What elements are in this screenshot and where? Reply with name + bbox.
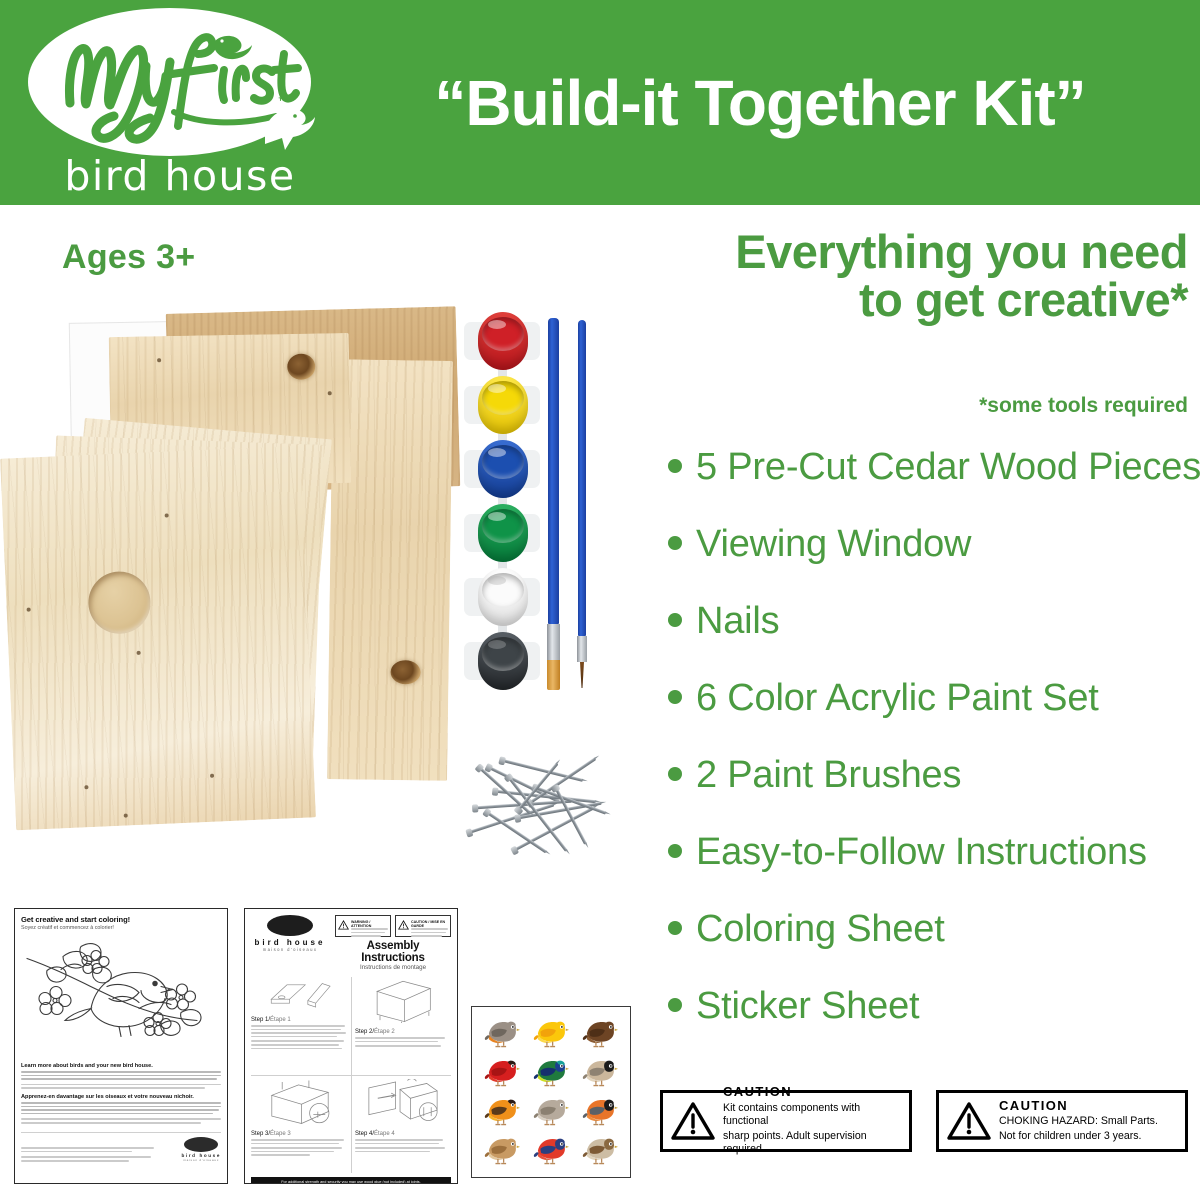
feature-label: 2 Paint Brushes bbox=[696, 756, 961, 794]
sticker-bird-bluebird bbox=[527, 1131, 575, 1169]
assembly-footer-note: For additional strength and security you… bbox=[251, 1177, 451, 1184]
feature-list: 5 Pre-Cut Cedar Wood PiecesViewing Windo… bbox=[668, 448, 1198, 1064]
acrylic-paint-set bbox=[462, 310, 542, 700]
small-bird-glyph bbox=[214, 36, 252, 59]
bullet-icon bbox=[668, 767, 682, 781]
sticker-bird-painted-bunting bbox=[527, 1054, 575, 1092]
feature-label: 5 Pre-Cut Cedar Wood Pieces bbox=[696, 448, 1200, 486]
sticker-bird-oriole bbox=[478, 1093, 526, 1131]
sticker-bird-wren bbox=[478, 1131, 526, 1169]
caution-line-2: Not for children under 3 years. bbox=[999, 1130, 1158, 1143]
feature-item: Coloring Sheet bbox=[668, 910, 1198, 979]
caution-heading: CAUTION bbox=[723, 1085, 901, 1099]
product-info-panel: ™ bird house “Build-it Together Kit” Age… bbox=[0, 0, 1200, 1200]
sticker-bird-robin bbox=[478, 1015, 526, 1053]
coloring-sheet-logo: bird house maison d'oiseaux bbox=[182, 1137, 221, 1162]
paint-pot-yellow bbox=[464, 374, 540, 437]
sticker-bird-sparrow-gray bbox=[527, 1093, 575, 1131]
bullet-icon bbox=[668, 998, 682, 1012]
feature-item: Sticker Sheet bbox=[668, 987, 1198, 1056]
paint-brush-round bbox=[578, 320, 586, 688]
caution-box-sharp-points: CAUTION Kit contains components with fun… bbox=[660, 1090, 912, 1152]
warning-triangle-icon bbox=[671, 1101, 715, 1141]
coloring-sheet-section-en: Learn more about birds and your new bird… bbox=[21, 1063, 221, 1069]
feature-item: 5 Pre-Cut Cedar Wood Pieces bbox=[668, 448, 1198, 517]
paint-pot-red bbox=[464, 310, 540, 373]
assembly-step-3: Step 3/Étape 3 bbox=[251, 1079, 349, 1173]
wood-plank-front-with-hole bbox=[0, 446, 316, 831]
feature-item: 2 Paint Brushes bbox=[668, 756, 1198, 825]
brand-subtitle: bird house bbox=[40, 152, 320, 200]
feature-item: 6 Color Acrylic Paint Set bbox=[668, 679, 1198, 748]
assembly-step-2: Step 2/Étape 2 bbox=[355, 977, 451, 1073]
bullet-icon bbox=[668, 613, 682, 627]
feature-item: Nails bbox=[668, 602, 1198, 671]
paint-brush-flat bbox=[548, 318, 559, 690]
bullet-icon bbox=[668, 459, 682, 473]
bullet-icon bbox=[668, 690, 682, 704]
coloring-sheet-title: Get creative and start coloring! bbox=[21, 915, 221, 924]
sticker-bird-brown-wren bbox=[576, 1131, 624, 1169]
bullet-icon bbox=[668, 844, 682, 858]
assembly-instructions-sheet: bird house maison d'oiseaux WARNING / AT… bbox=[244, 908, 458, 1184]
assembly-step-1: Step 1/Étape 1 bbox=[251, 977, 349, 1073]
wood-pieces-photo bbox=[0, 300, 450, 890]
paint-pot-white bbox=[464, 566, 540, 629]
sticker-bird-nuthatch bbox=[576, 1093, 624, 1131]
sticker-bird-chickadee bbox=[576, 1054, 624, 1092]
caution-box-choking-hazard: CAUTION CHOKING HAZARD: Small Parts. Not… bbox=[936, 1090, 1188, 1152]
age-rating-label: Ages 3+ bbox=[62, 238, 195, 277]
bird-icon bbox=[255, 100, 317, 152]
coloring-sheet-section-fr: Apprenez-en davantage sur les oiseaux et… bbox=[21, 1094, 221, 1100]
bird-line-art-illustration bbox=[21, 935, 221, 1053]
feature-label: Easy-to-Follow Instructions bbox=[696, 833, 1147, 871]
feature-label: Viewing Window bbox=[696, 525, 971, 563]
caution-line-1: CHOKING HAZARD: Small Parts. bbox=[999, 1115, 1158, 1128]
feature-label: Nails bbox=[696, 602, 779, 640]
headline-footnote: *some tools required bbox=[640, 394, 1188, 418]
sticker-bird-brown-thrush bbox=[576, 1015, 624, 1053]
assembly-brand-logo: bird house maison d'oiseaux bbox=[251, 915, 329, 952]
page-title: “Build-it Together Kit” bbox=[330, 48, 1190, 158]
caution-line-1: Kit contains components with functional bbox=[723, 1102, 901, 1128]
sticker-sheet bbox=[471, 1006, 631, 1178]
paint-pot-green bbox=[464, 502, 540, 565]
coloring-sheet: Get creative and start coloring! Soyez c… bbox=[14, 908, 228, 1184]
sticker-bird-cardinal bbox=[478, 1054, 526, 1092]
main-headline: Everything you need to get creative* bbox=[640, 228, 1188, 324]
header-band: ™ bird house “Build-it Together Kit” bbox=[0, 0, 1200, 205]
bullet-icon bbox=[668, 921, 682, 935]
warning-triangle-icon bbox=[947, 1101, 991, 1141]
assembly-step-4: Step 4/Étape 4 bbox=[355, 1079, 451, 1173]
assembly-warning-box-left: WARNING / ATTENTION bbox=[335, 915, 391, 937]
headline-line-1: Everything you need bbox=[735, 225, 1188, 278]
assembly-warning-box-right: CAUTION / MISE EN GARDE bbox=[395, 915, 451, 937]
paint-pot-blue bbox=[464, 438, 540, 501]
headline-line-2: to get creative* bbox=[640, 276, 1188, 324]
feature-item: Easy-to-Follow Instructions bbox=[668, 833, 1198, 902]
bullet-icon bbox=[668, 536, 682, 550]
feature-label: Coloring Sheet bbox=[696, 910, 945, 948]
feature-label: Sticker Sheet bbox=[696, 987, 919, 1025]
caution-line-2: sharp points. Adult supervision required… bbox=[723, 1130, 901, 1156]
sticker-bird-goldfinch bbox=[527, 1015, 575, 1053]
feature-item: Viewing Window bbox=[668, 525, 1198, 594]
coloring-sheet-subtitle: Soyez créatif et commencez à colorier! bbox=[21, 925, 221, 931]
bird-entry-hole bbox=[87, 570, 152, 635]
feature-label: 6 Color Acrylic Paint Set bbox=[696, 679, 1099, 717]
caution-heading: CAUTION bbox=[999, 1099, 1158, 1113]
nails-photo bbox=[462, 755, 622, 865]
paint-pot-black bbox=[464, 630, 540, 693]
